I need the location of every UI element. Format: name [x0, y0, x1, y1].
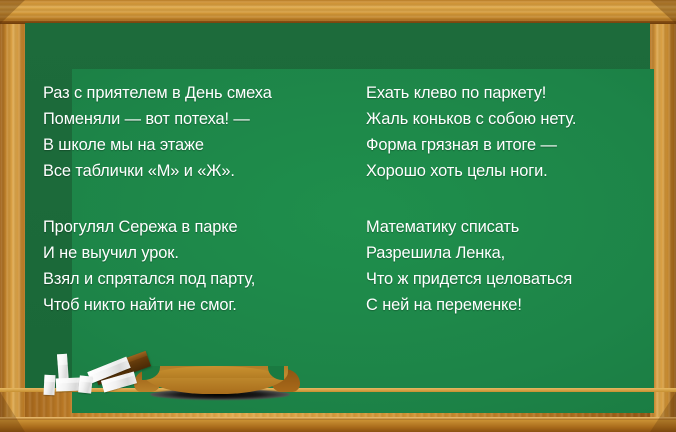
verse-stanza: Математику списать Разрешила Ленка, Что … — [366, 214, 576, 318]
chalk-stick — [43, 375, 55, 396]
verse-line: Все таблички «М» и «Ж». — [43, 158, 272, 184]
verse-column-right: Ехать клево по паркету! Жаль коньков с с… — [366, 80, 576, 318]
verse-stanza: Прогулял Сережа в парке И не выучил урок… — [43, 214, 272, 318]
verse-stanza: Ехать клево по паркету! Жаль коньков с с… — [366, 80, 576, 184]
chalk-stick — [78, 375, 93, 393]
verse-line: Разрешила Ленка, — [366, 240, 576, 266]
verse-line: Жаль коньков с собою нету. — [366, 106, 576, 132]
verse-stanza: Раз с приятелем в День смеха Поменяли — … — [43, 80, 272, 184]
chalk-tray — [142, 366, 288, 396]
verse-line: Ехать клево по паркету! — [366, 80, 576, 106]
verse-line: Раз с приятелем в День смеха — [43, 80, 272, 106]
verse-line: Прогулял Сережа в парке — [43, 214, 272, 240]
verse-line: Математику списать — [366, 214, 576, 240]
verse-line: И не выучил урок. — [43, 240, 272, 266]
chalk-pile — [42, 352, 154, 400]
verse-line: В школе мы на этаже — [43, 132, 272, 158]
verse-line: С ней на переменке! — [366, 292, 576, 318]
verse-line: Форма грязная в итоге — — [366, 132, 576, 158]
verse-line: Хорошо хоть целы ноги. — [366, 158, 576, 184]
verse-line: Взял и спрятался под парту, — [43, 266, 272, 292]
verse-line: Поменяли — вот потеха! — — [43, 106, 272, 132]
verse-column-left: Раз с приятелем в День смеха Поменяли — … — [43, 80, 272, 318]
verse-line: Чтоб никто найти не смог. — [43, 292, 272, 318]
chalkboard-scene: Раз с приятелем в День смеха Поменяли — … — [0, 0, 676, 432]
verse-line: Что ж придется целоваться — [366, 266, 576, 292]
